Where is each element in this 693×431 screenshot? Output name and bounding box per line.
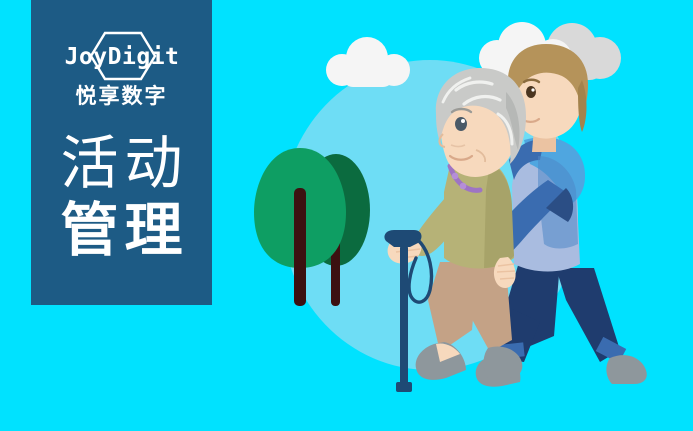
page-title-line-1: 活动	[31, 130, 212, 197]
brand-block: JoyDigit 悦享数字	[31, 30, 212, 107]
caregiver-eye	[526, 86, 536, 98]
elder-eye	[455, 117, 467, 131]
page-title: 活动 管理	[31, 130, 212, 264]
joydigit-logo-icon: JoyDigit	[31, 30, 212, 82]
svg-text:JoyDigit: JoyDigit	[64, 44, 179, 70]
page-title-line-2: 管理	[31, 197, 212, 264]
title-panel: JoyDigit 悦享数字 活动 管理	[31, 0, 212, 305]
brand-chinese-name: 悦享数字	[31, 86, 212, 107]
activity-management-banner: JoyDigit 悦享数字 活动 管理	[0, 0, 693, 431]
